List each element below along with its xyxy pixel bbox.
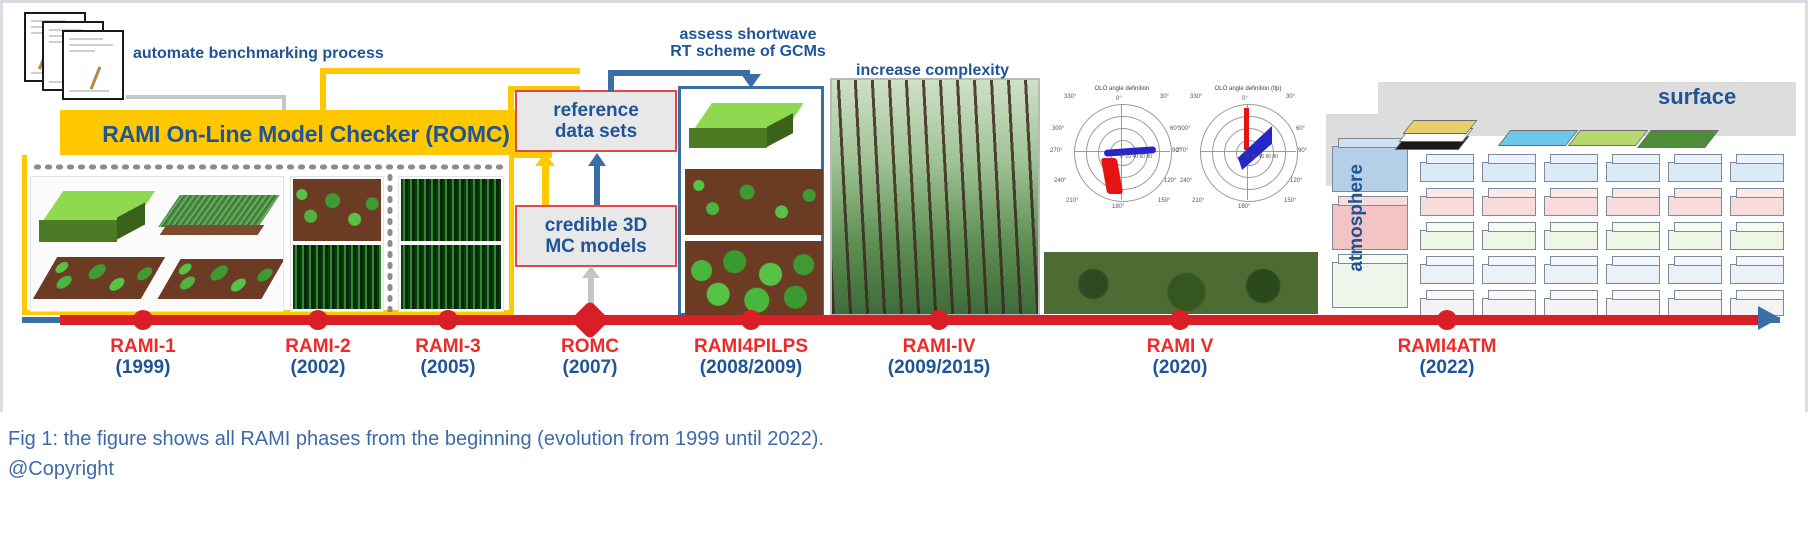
thumb-rami2-scenes	[290, 176, 384, 312]
credible-3d-mc-models-box: credible 3D MC models	[515, 205, 677, 267]
aerial-forest-photo	[1044, 214, 1318, 314]
annotation-assess-shortwave: assess shortwave RT scheme of GCMs	[648, 26, 848, 60]
panel-rami-v: OLO angle definition 330° 30° 300° 60° 2…	[1044, 82, 1318, 316]
figure-left-rule	[0, 0, 3, 412]
credible-models-line2: MC models	[545, 236, 646, 257]
caption-line-1: Fig 1: the figure shows all RAMI phases …	[8, 424, 1608, 454]
annotation-automate-benchmarking: automate benchmarking process	[133, 45, 384, 62]
timeline-phase-year: (2008/2009)	[651, 357, 851, 379]
caption-line-2: @Copyright	[8, 454, 1608, 484]
atmosphere-label: atmosphere	[1346, 164, 1368, 272]
timeline-phase-name: RAMI-IV	[839, 337, 1039, 357]
timeline-label-rami-1: RAMI-1(1999)	[43, 337, 243, 379]
annotation-increase-complexity: increase complexity	[856, 62, 1009, 79]
timeline-node-rami-3[interactable]	[438, 310, 458, 330]
panel-rami4atm: atmosphere surface	[1318, 78, 1800, 316]
yellow-arrow-head-credible-to-reference-icon	[535, 153, 555, 166]
atmosphere-cube-middle	[1332, 196, 1408, 250]
romc-banner-label: RAMI On-Line Model Checker (ROMC)	[60, 110, 552, 158]
reference-data-sets-box: reference data sets	[515, 90, 677, 152]
timeline-phase-name: RAMI-1	[43, 337, 243, 357]
surface-plate-darkgreen	[1637, 130, 1719, 148]
blue-arrow-shaft-credible-to-reference	[594, 165, 600, 205]
yellow-arrow-shaft-credible-to-reference	[542, 165, 549, 205]
thumb-rami3-scenes	[398, 176, 504, 312]
timeline-label-rami4pilps: RAMI4PILPS(2008/2009)	[651, 337, 851, 379]
timeline-phase-year: (2009/2015)	[839, 357, 1039, 379]
gray-connector-horizontal	[126, 95, 286, 99]
polar-plot-1-title: OLO angle definition	[1060, 86, 1184, 92]
documents-stack-icon	[24, 12, 124, 90]
timeline-phase-year: (2020)	[1080, 357, 1280, 379]
panel-rami4pilps	[678, 86, 824, 316]
timeline-phase-name: RAMI4ATM	[1347, 337, 1547, 357]
blue-arrow-head-credible-to-reference-icon	[588, 153, 606, 166]
surface-plate-lightgreen	[1568, 130, 1649, 146]
timeline-arrow-head-icon	[1758, 306, 1780, 330]
timeline-node-rami-iv[interactable]	[929, 310, 949, 330]
rami4atm-cube-grid	[1420, 154, 1798, 314]
timeline-phase-name: RAMI V	[1080, 337, 1280, 357]
atmosphere-cube-bottom	[1332, 254, 1408, 308]
surface-plate-yellow	[1403, 120, 1478, 134]
yellow-connector-horizontal	[320, 68, 580, 74]
timeline-label-rami-iv: RAMI-IV(2009/2015)	[839, 337, 1039, 379]
reference-data-sets-line2: data sets	[555, 121, 637, 142]
timeline-node-rami4pilps[interactable]	[741, 310, 761, 330]
timeline-node-rami4atm[interactable]	[1437, 310, 1457, 330]
timeline-phase-year: (2022)	[1347, 357, 1547, 379]
timeline-phase-name: RAMI4PILPS	[651, 337, 851, 357]
dotted-rail-top	[32, 163, 506, 171]
polar-plot-2-title: OLO angle definition (tlp)	[1186, 86, 1310, 92]
gray-arrow-head-timeline-to-credible-icon	[582, 266, 600, 278]
blue-rail-horizontal	[608, 70, 750, 76]
timeline-node-rami-1[interactable]	[133, 310, 153, 330]
timeline-label-rami-v: RAMI V(2020)	[1080, 337, 1280, 379]
credible-models-line1: credible 3D	[545, 215, 647, 236]
surface-plate-cyan	[1498, 130, 1579, 146]
dotted-rail-column	[386, 172, 394, 312]
timeline-phase-year: (1999)	[43, 357, 243, 379]
figure-caption: Fig 1: the figure shows all RAMI phases …	[8, 424, 1608, 484]
thumb-rami1-scenes	[30, 176, 284, 312]
timeline-node-rami-2[interactable]	[308, 310, 328, 330]
romc-banner: RAMI On-Line Model Checker (ROMC)	[60, 110, 552, 158]
polar-plot-2: OLO angle definition (tlp) 330° 30° 300°…	[1186, 86, 1310, 210]
figure-top-rule	[0, 0, 1808, 3]
polar-plot-1: OLO angle definition 330° 30° 300° 60° 2…	[1060, 86, 1184, 210]
surface-label: surface	[1658, 88, 1736, 105]
timeline-node-rami-v[interactable]	[1170, 310, 1190, 330]
reference-data-sets-line1: reference	[553, 100, 639, 121]
panel-rami-iv-forest-photo	[830, 78, 1040, 316]
timeline-label-rami4atm: RAMI4ATM(2022)	[1347, 337, 1547, 379]
timeline-node-romc[interactable]	[570, 300, 610, 340]
figure-canvas: automate benchmarking process RAMI On-Li…	[0, 0, 1808, 539]
assess-line1: assess shortwave	[680, 26, 817, 43]
assess-line2: RT scheme of GCMs	[670, 43, 826, 60]
